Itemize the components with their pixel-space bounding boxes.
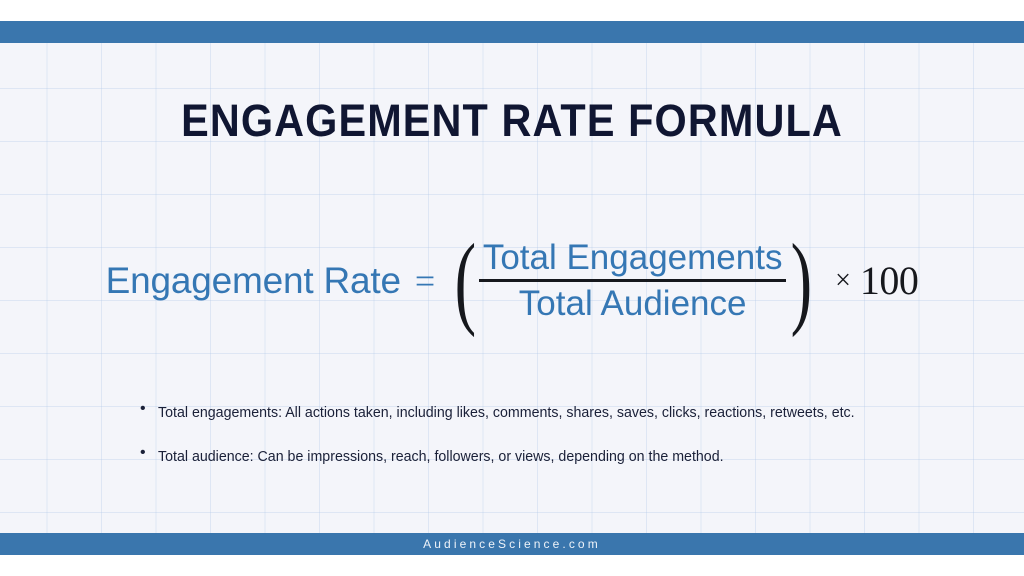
formula-left-side: Engagement Rate [106,260,401,302]
slide: ENGAGEMENT RATE FORMULA Engagement Rate … [0,0,1024,576]
multiply-icon: × [835,265,851,297]
page-title: ENGAGEMENT RATE FORMULA [41,95,983,147]
paren-close: ) [791,238,812,323]
fraction-numerator: Total Engagements [479,238,787,278]
paren-open: ( [455,238,476,323]
equals-sign: = [415,260,435,302]
fraction-denominator: Total Audience [515,284,751,324]
list-item: • Total audience: Can be impressions, re… [140,442,930,473]
bullet-icon: • [140,442,158,463]
list-item-text: Total engagements: All actions taken, in… [158,398,855,429]
engagement-rate-formula: Engagement Rate = ( Total Engagements To… [0,238,1024,324]
top-accent-bar [0,21,1024,43]
bottom-accent-bar: AudienceScience.com [0,533,1024,555]
fraction-bar [479,279,787,282]
list-item-text: Total audience: Can be impressions, reac… [158,442,724,473]
definition-list: • Total engagements: All actions taken, … [140,398,930,486]
list-item: • Total engagements: All actions taken, … [140,398,930,429]
footer-brand: AudienceScience.com [423,537,601,551]
fraction: Total Engagements Total Audience [479,238,787,324]
formula-multiplier: 100 [860,257,919,304]
bullet-icon: • [140,398,158,419]
